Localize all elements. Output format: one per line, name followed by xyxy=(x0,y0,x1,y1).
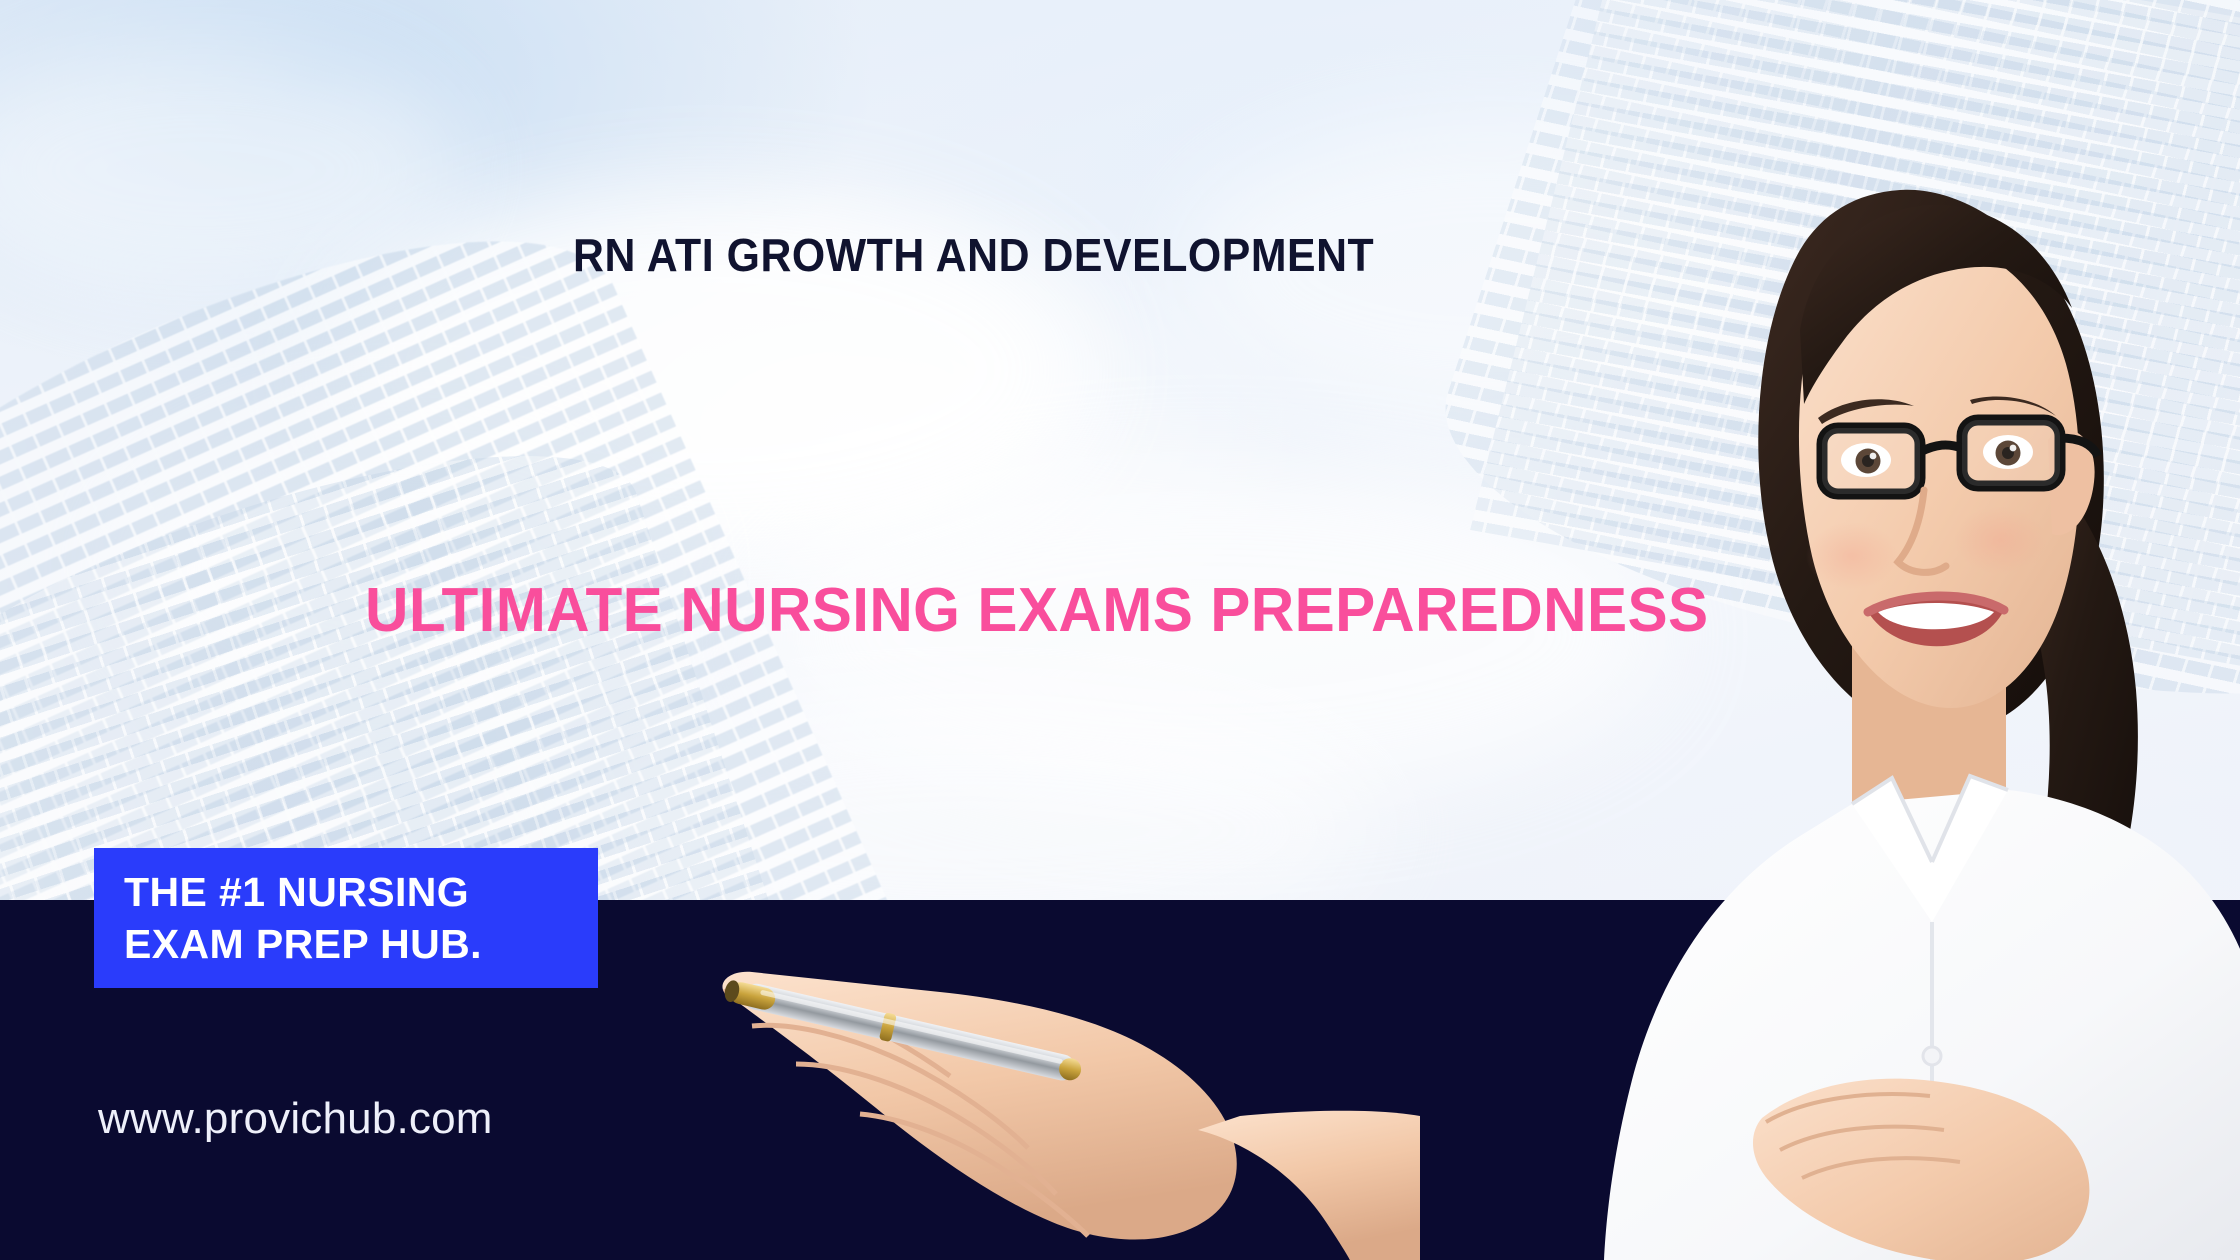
promotional-banner: RN ATI GROWTH AND DEVELOPMENT ULTIMATE N… xyxy=(0,0,2240,1260)
badge-line-2: EXAM PREP HUB. xyxy=(124,918,598,970)
website-url[interactable]: www.provichub.com xyxy=(98,1094,493,1144)
page-title: RN ATI GROWTH AND DEVELOPMENT xyxy=(573,232,1374,278)
headline: ULTIMATE NURSING EXAMS PREPAREDNESS xyxy=(365,580,1708,642)
badge-callout: THE #1 NURSING EXAM PREP HUB. xyxy=(94,848,598,988)
badge-line-1: THE #1 NURSING xyxy=(124,866,598,918)
